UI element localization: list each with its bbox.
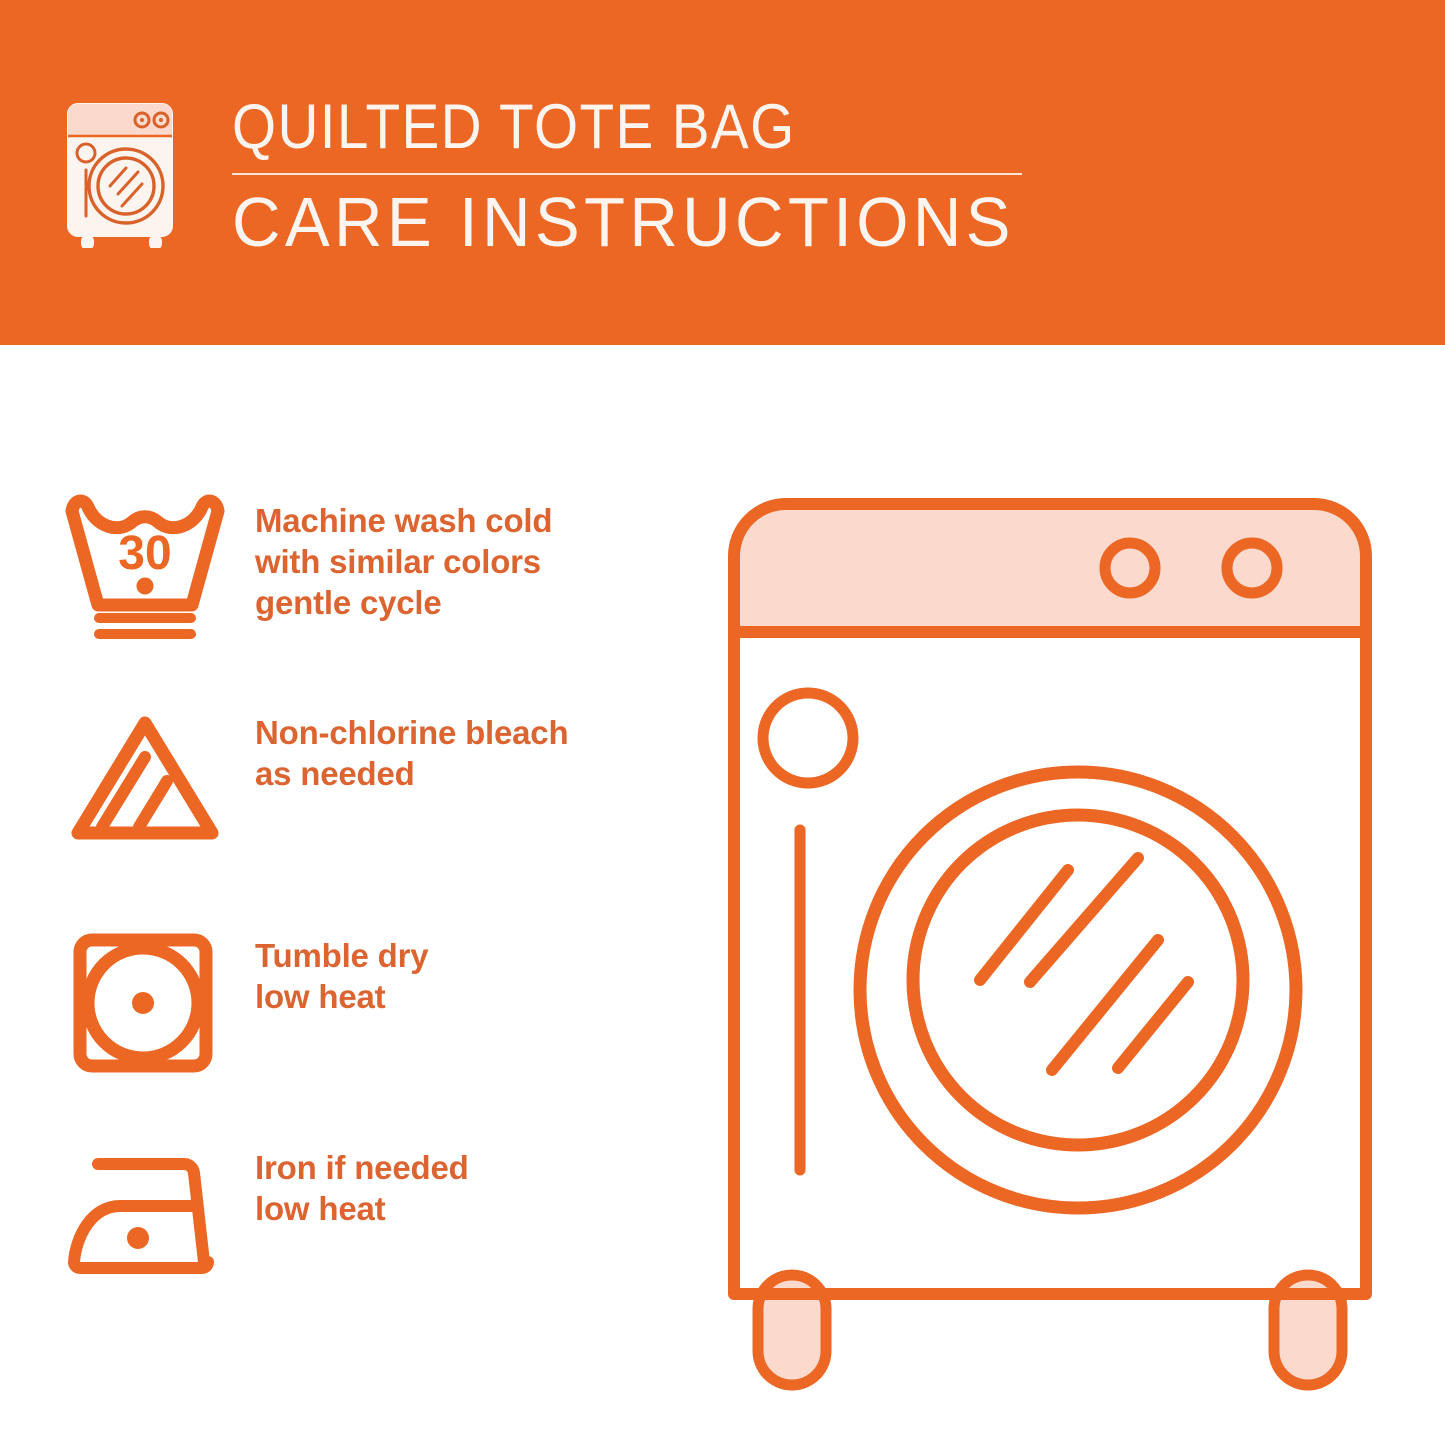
machine-wash-tub-icon: 30: [62, 493, 228, 643]
tumble-dry-low-icon-wrapper: [62, 923, 237, 1083]
non-chlorine-bleach-triangle-icon: [62, 705, 228, 855]
header-content: QUILTED TOTE BAG CARE INSTRUCTIONS: [60, 92, 1047, 261]
care-item-dry-label: Tumble dry low heat: [255, 923, 428, 1017]
care-item-iron-label: Iron if needed low heat: [255, 1135, 469, 1229]
care-item-bleach-label: Non-chlorine bleach as needed: [255, 700, 568, 794]
washing-machine-icon: [60, 98, 188, 248]
header-text-block: QUILTED TOTE BAG CARE INSTRUCTIONS: [232, 92, 1047, 261]
iron-low-heat-icon-wrapper: [62, 1135, 237, 1295]
door-stripes: [980, 858, 1188, 1070]
care-text-line: Non-chlorine bleach: [255, 712, 568, 753]
detergent-indicator: [763, 693, 853, 783]
header-band: QUILTED TOTE BAG CARE INSTRUCTIONS: [0, 0, 1445, 345]
care-text-line: with similar colors: [255, 541, 552, 582]
tumble-dry-low-icon: [62, 928, 228, 1078]
page-subtitle: CARE INSTRUCTIONS: [232, 183, 1015, 261]
machine-wash-tub-icon-wrapper: 30: [62, 488, 237, 648]
care-text-line: as needed: [255, 753, 568, 794]
page-title: QUILTED TOTE BAG: [232, 92, 966, 162]
care-text-line: gentle cycle: [255, 582, 552, 623]
care-text-line: low heat: [255, 1188, 469, 1229]
iron-low-heat-icon: [62, 1140, 228, 1290]
care-item-dry: Tumble dry low heat: [62, 923, 682, 1083]
care-text-line: Machine wash cold: [255, 500, 552, 541]
front-load-washing-machine-illustration: [700, 470, 1400, 1400]
wash-temperature-label: 30: [118, 527, 171, 580]
care-text-line: Iron if needed: [255, 1147, 469, 1188]
care-text-line: low heat: [255, 976, 428, 1017]
header-divider: [232, 173, 1022, 175]
care-instructions-page: QUILTED TOTE BAG CARE INSTRUCTIONS 30: [0, 0, 1445, 1445]
control-panel: [734, 504, 1366, 632]
care-text-line: Tumble dry: [255, 935, 428, 976]
care-item-bleach: Non-chlorine bleach as needed: [62, 700, 682, 860]
care-item-iron: Iron if needed low heat: [62, 1135, 682, 1295]
care-item-wash-label: Machine wash cold with similar colors ge…: [255, 488, 552, 623]
non-chlorine-bleach-triangle-icon-wrapper: [62, 700, 237, 860]
care-item-wash: 30 Machine wash cold with similar colors…: [62, 488, 682, 648]
care-instructions-list: 30 Machine wash cold with similar colors…: [0, 345, 700, 1445]
